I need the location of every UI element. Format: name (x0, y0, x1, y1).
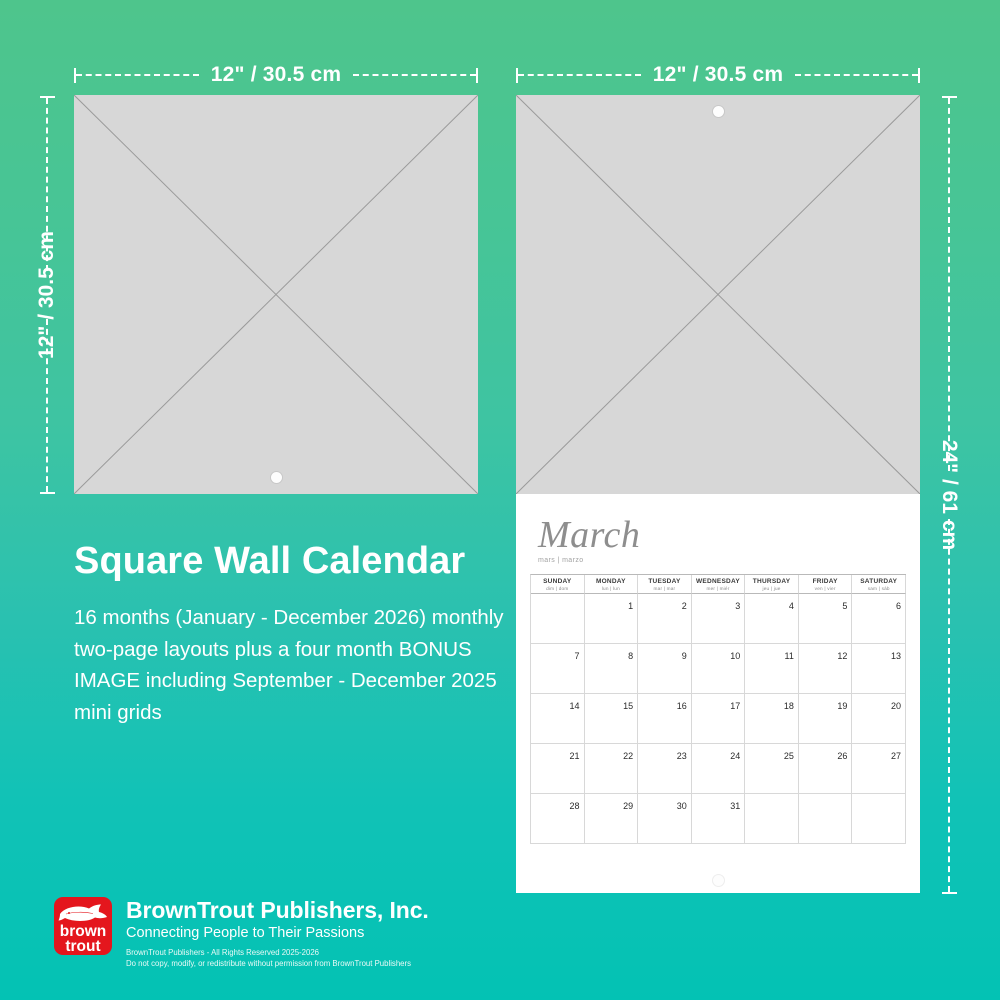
calendar-day-cell[interactable] (799, 794, 853, 844)
weekday-name-translated: lun | lun (585, 586, 638, 591)
dimension-line-right-vertical: 24" / 61 cm (934, 96, 964, 894)
weekday-name-translated: jeu | jue (745, 586, 798, 591)
weekday-header-cell: SATURDAYsam | sáb (852, 575, 906, 594)
calendar-day-cell[interactable] (745, 794, 799, 844)
weekday-name: SATURDAY (852, 578, 905, 585)
calendar-day-number: 10 (730, 651, 740, 661)
dimension-dash-right (795, 74, 918, 76)
calendar-day-cell[interactable]: 26 (799, 744, 853, 794)
calendar-day-cell[interactable]: 28 (531, 794, 585, 844)
dimension-dash-bottom (948, 519, 950, 892)
calendar-day-number: 13 (891, 651, 901, 661)
calendar-day-number: 1 (628, 601, 633, 611)
calendar-day-number: 6 (896, 601, 901, 611)
calendar-day-number: 8 (628, 651, 633, 661)
dimension-line-left-vertical: 12" / 30.5 cm (32, 96, 62, 494)
placeholder-cross-icon (516, 95, 920, 494)
calendar-day-number: 24 (730, 751, 740, 761)
calendar-day-number: 12 (837, 651, 847, 661)
calendar-day-number: 17 (730, 701, 740, 711)
calendar-day-cell[interactable]: 31 (692, 794, 746, 844)
calendar-day-cell[interactable]: 3 (692, 594, 746, 644)
calendar-day-cell[interactable]: 27 (852, 744, 906, 794)
legal-line-1: BrownTrout Publishers - All Rights Reser… (126, 948, 429, 959)
calendar-month-subtitle: mars | marzo (538, 557, 920, 564)
logo-word-trout: trout (54, 939, 112, 955)
dimension-label-left-vertical: 12" / 30.5 cm (23, 231, 71, 359)
calendar-day-number: 21 (570, 751, 580, 761)
weekday-header-cell: SUNDAYdim | dom (531, 575, 585, 594)
weekday-header-cell: THURSDAYjeu | jue (745, 575, 799, 594)
calendar-day-number: 28 (570, 801, 580, 811)
calendar-day-cell[interactable]: 7 (531, 644, 585, 694)
calendar-day-cell[interactable]: 11 (745, 644, 799, 694)
calendar-day-cell[interactable]: 25 (745, 744, 799, 794)
company-tagline: Connecting People to Their Passions (126, 925, 429, 941)
dimension-cap-bottom (942, 892, 957, 894)
calendar-weekday-header: SUNDAYdim | domMONDAYlun | lunTUESDAYmar… (530, 574, 906, 594)
dimension-cap-right (476, 68, 478, 83)
weekday-name-translated: mer | miér (692, 586, 745, 591)
weekday-name-translated: mar | mar (638, 586, 691, 591)
calendar-day-cell[interactable]: 9 (638, 644, 692, 694)
weekday-name-translated: dim | dom (531, 586, 584, 591)
calendar-day-number: 30 (677, 801, 687, 811)
weekday-header-cell: WEDNESDAYmer | miér (692, 575, 746, 594)
calendar-day-number: 25 (784, 751, 794, 761)
calendar-day-number: 27 (891, 751, 901, 761)
dimension-line-top-left: 12" / 30.5 cm (74, 60, 478, 90)
calendar-day-cell[interactable]: 15 (585, 694, 639, 744)
calendar-day-cell[interactable]: 18 (745, 694, 799, 744)
calendar-day-cell[interactable]: 29 (585, 794, 639, 844)
calendar-month-title: March (538, 516, 920, 554)
calendar-day-cell[interactable] (531, 594, 585, 644)
calendar-day-cell[interactable]: 2 (638, 594, 692, 644)
calendar-day-number: 23 (677, 751, 687, 761)
calendar-day-cell[interactable]: 23 (638, 744, 692, 794)
punch-hole (271, 472, 282, 483)
weekday-name: WEDNESDAY (692, 578, 745, 585)
calendar-day-cell[interactable]: 14 (531, 694, 585, 744)
calendar-day-cell[interactable]: 22 (585, 744, 639, 794)
weekday-header-cell: FRIDAYven | vier (799, 575, 853, 594)
calendar-day-cell[interactable]: 16 (638, 694, 692, 744)
calendar-day-cell[interactable]: 5 (799, 594, 853, 644)
weekday-name: MONDAY (585, 578, 638, 585)
calendar-day-cell[interactable]: 8 (585, 644, 639, 694)
calendar-day-cell[interactable]: 19 (799, 694, 853, 744)
calendar-day-cell[interactable] (852, 794, 906, 844)
product-description: 16 months (January - December 2026) mont… (74, 602, 518, 728)
calendar-day-number: 2 (682, 601, 687, 611)
page-title: Square Wall Calendar (74, 540, 514, 583)
dimension-label-right-vertical: 24" / 61 cm (925, 440, 973, 550)
calendar-day-number: 14 (570, 701, 580, 711)
trout-fish-icon (58, 902, 108, 924)
punch-hole (713, 875, 724, 886)
calendar-day-cell[interactable]: 24 (692, 744, 746, 794)
weekday-header-cell: TUESDAYmar | mar (638, 575, 692, 594)
calendar-day-number: 18 (784, 701, 794, 711)
weekday-name: FRIDAY (799, 578, 852, 585)
weekday-header-cell: MONDAYlun | lun (585, 575, 639, 594)
weekday-name: SUNDAY (531, 578, 584, 585)
calendar-day-number: 9 (682, 651, 687, 661)
calendar-day-number: 11 (785, 651, 794, 661)
punch-hole (713, 106, 724, 117)
calendar-day-cell[interactable]: 30 (638, 794, 692, 844)
calendar-day-number: 29 (623, 801, 633, 811)
calendar-day-cell[interactable]: 1 (585, 594, 639, 644)
dimension-label-top-left: 12" / 30.5 cm (199, 63, 353, 87)
calendar-day-number: 20 (891, 701, 901, 711)
dimension-cap-bottom (40, 492, 55, 494)
legal-line-2: Do not copy, modify, or redistribute wit… (126, 959, 429, 970)
company-name: BrownTrout Publishers, Inc. (126, 897, 429, 924)
footer-text-block: BrownTrout Publishers, Inc. Connecting P… (126, 897, 429, 969)
weekday-name: TUESDAY (638, 578, 691, 585)
dimension-label-top-right: 12" / 30.5 cm (641, 63, 795, 87)
calendar-day-grid: 1234567891011121314151617181920212223242… (530, 594, 906, 844)
dimension-dash-left (76, 74, 199, 76)
dimension-line-top-right: 12" / 30.5 cm (516, 60, 920, 90)
dimension-dash-top (948, 98, 950, 471)
calendar-day-number: 5 (842, 601, 847, 611)
calendar-month-header: March mars | marzo (516, 494, 920, 564)
calendar-day-cell[interactable]: 20 (852, 694, 906, 744)
footer: brown trout BrownTrout Publishers, Inc. … (54, 897, 429, 969)
calendar-day-cell[interactable]: 12 (799, 644, 853, 694)
calendar-day-number: 7 (575, 651, 580, 661)
calendar-day-cell[interactable]: 4 (745, 594, 799, 644)
calendar-day-cell[interactable]: 6 (852, 594, 906, 644)
right-image-panel (516, 95, 920, 494)
dimension-dash-right (353, 74, 476, 76)
weekday-name-translated: ven | vier (799, 586, 852, 591)
calendar-day-number: 16 (677, 701, 687, 711)
calendar-page: March mars | marzo SUNDAYdim | domMONDAY… (516, 494, 920, 893)
calendar-day-cell[interactable]: 21 (531, 744, 585, 794)
dimension-dash-left (518, 74, 641, 76)
calendar-day-number: 3 (735, 601, 740, 611)
calendar-day-cell[interactable]: 17 (692, 694, 746, 744)
calendar-day-number: 26 (837, 751, 847, 761)
calendar-day-number: 4 (789, 601, 794, 611)
calendar-day-number: 15 (623, 701, 633, 711)
calendar-day-cell[interactable]: 10 (692, 644, 746, 694)
left-image-panel (74, 95, 478, 494)
calendar-day-number: 19 (837, 701, 847, 711)
browntrout-logo: brown trout (54, 897, 112, 955)
placeholder-cross-icon (74, 95, 478, 494)
dimension-cap-right (918, 68, 920, 83)
calendar-day-number: 22 (623, 751, 633, 761)
weekday-name-translated: sam | sáb (852, 586, 905, 591)
weekday-name: THURSDAY (745, 578, 798, 585)
legal-notice: BrownTrout Publishers - All Rights Reser… (126, 948, 429, 969)
calendar-day-cell[interactable]: 13 (852, 644, 906, 694)
calendar-day-number: 31 (730, 801, 740, 811)
